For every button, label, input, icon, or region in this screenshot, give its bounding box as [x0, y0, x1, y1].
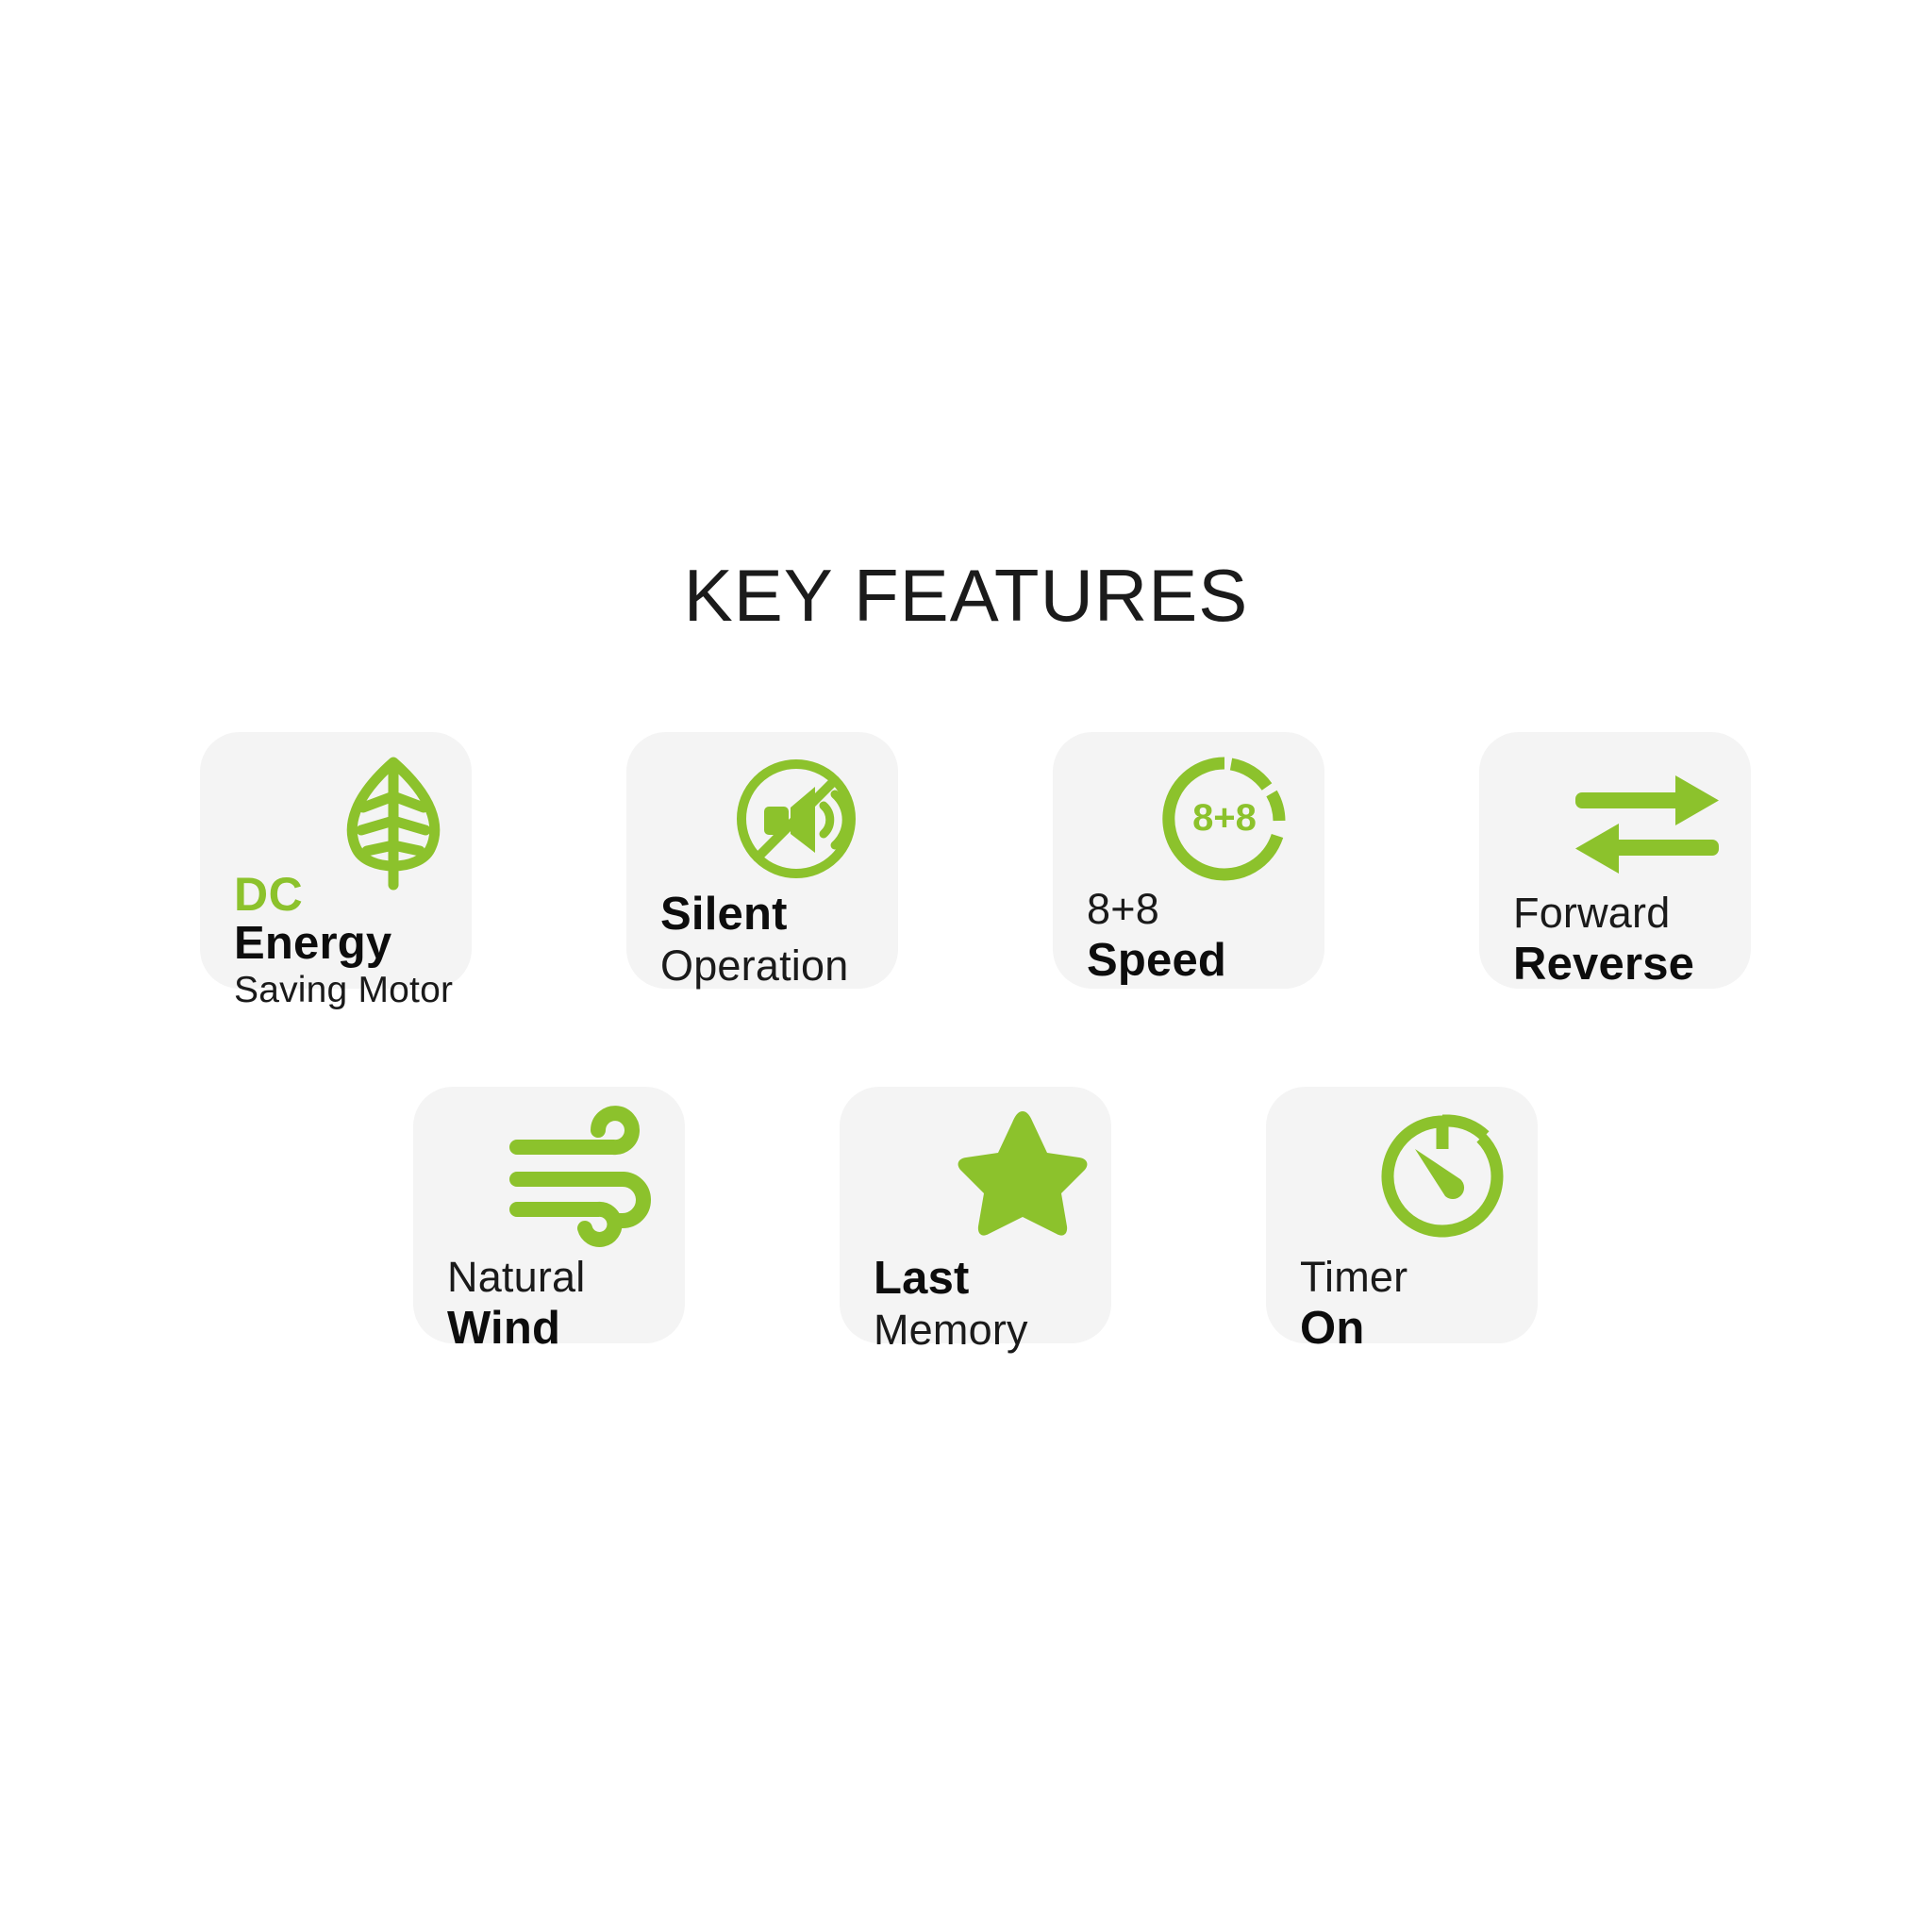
timer-icon	[1374, 1108, 1511, 1245]
feature-line1: Silent	[660, 891, 848, 940]
feature-line1: Timer	[1300, 1255, 1407, 1300]
feature-card-text: Forward Reverse	[1513, 891, 1694, 991]
feature-line2: Wind	[447, 1303, 585, 1355]
page-title: KEY FEATURES	[0, 558, 1932, 632]
muted-speaker-icon	[732, 755, 860, 883]
feature-line1: Last	[874, 1255, 1028, 1304]
forward-reverse-arrows-icon	[1570, 772, 1724, 877]
feature-card-text: Natural Wind	[447, 1255, 585, 1355]
feature-line1: Forward	[1513, 891, 1694, 936]
feature-badge-dc: DC	[234, 872, 453, 917]
feature-line1: 8+8	[1087, 887, 1226, 932]
feature-card-text: 8+8 Speed	[1087, 887, 1226, 987]
feature-line1: Energy	[234, 919, 453, 969]
wind-icon	[508, 1111, 658, 1243]
feature-card-natural-wind[interactable]: Natural Wind	[413, 1087, 685, 1343]
key-features-panel: KEY FEATURES DC Energy Saving Motor	[0, 0, 1932, 1932]
feature-card-silent-operation[interactable]: Silent Operation	[626, 732, 898, 989]
feature-card-text: DC Energy Saving Motor	[234, 872, 453, 1011]
feature-line2: Saving Motor	[234, 971, 453, 1011]
feature-line2: On	[1300, 1303, 1407, 1355]
feature-card-speed[interactable]: 8+8 8+8 Speed	[1053, 732, 1324, 989]
feature-line2: Operation	[660, 942, 848, 990]
feature-line2: Speed	[1087, 935, 1226, 987]
feature-card-text: Last Memory	[874, 1255, 1028, 1354]
feature-line2: Reverse	[1513, 939, 1694, 991]
feature-card-text: Timer On	[1300, 1255, 1407, 1355]
feature-card-forward-reverse[interactable]: Forward Reverse	[1479, 732, 1751, 989]
speed-gauge-icon: 8+8	[1155, 749, 1294, 889]
speed-gauge-value: 8+8	[1192, 797, 1257, 839]
feature-card-text: Silent Operation	[660, 891, 848, 990]
feature-line2: Memory	[874, 1307, 1028, 1354]
feature-card-last-memory[interactable]: Last Memory	[840, 1087, 1111, 1343]
star-icon	[953, 1106, 1092, 1241]
feature-card-timer-on[interactable]: Timer On	[1266, 1087, 1538, 1343]
feature-card-dc-energy-saving-motor[interactable]: DC Energy Saving Motor	[200, 732, 472, 989]
feature-line1: Natural	[447, 1255, 585, 1300]
